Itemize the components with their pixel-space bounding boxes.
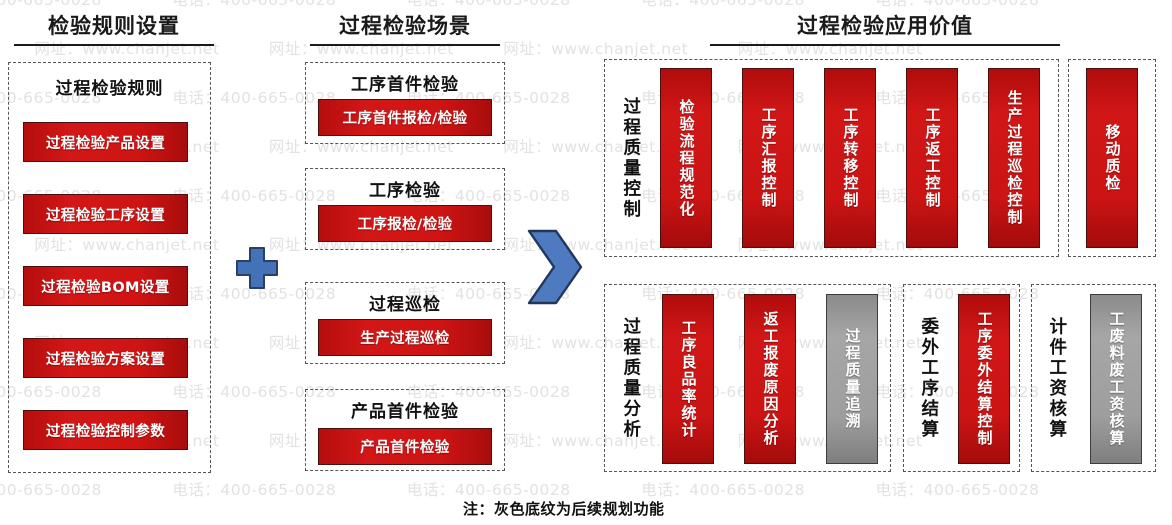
scene-panel-0-title: 工序首件检验 <box>305 70 505 95</box>
value-bar-process-report-control[interactable]: 工序汇报控制 <box>742 68 794 248</box>
column-heading-scenes: 过程检验场景 <box>310 10 500 46</box>
value-bar-scrap-reason-analysis[interactable]: 返工报废原因分析 <box>744 294 796 464</box>
column-heading-value-label: 过程检验应用价值 <box>791 10 979 40</box>
rules-item-2[interactable]: 过程检验BOM设置 <box>23 266 188 306</box>
value-bar-process-transfer-control[interactable]: 工序转移控制 <box>824 68 876 248</box>
scene-panel-3-title: 产品首件检验 <box>305 397 505 422</box>
scene-item-1[interactable]: 工序报检/检验 <box>318 205 492 242</box>
value-panel-piecework-label: 计件工资核算 <box>1038 296 1074 460</box>
rules-item-1[interactable]: 过程检验工序设置 <box>23 194 188 234</box>
value-bar-yield-statistics[interactable]: 工序良品率统计 <box>662 294 714 464</box>
scene-panel-1-title: 工序检验 <box>305 176 505 201</box>
rules-panel-title: 过程检验规则 <box>8 74 211 99</box>
value-panel-quality-analysis-label: 过程质量分析 <box>612 296 648 460</box>
scene-item-3[interactable]: 产品首件检验 <box>318 428 492 465</box>
plus-icon <box>233 244 281 292</box>
rules-item-4[interactable]: 过程检验控制参数 <box>23 410 188 450</box>
rules-item-3[interactable]: 过程检验方案设置 <box>23 338 188 378</box>
value-bar-production-patrol-control[interactable]: 生产过程巡检控制 <box>988 68 1040 248</box>
scene-panel-2-title: 过程巡检 <box>305 290 505 315</box>
column-heading-rules-label: 检验规则设置 <box>42 10 186 40</box>
value-bar-outsourcing-settlement-control[interactable]: 工序委外结算控制 <box>958 294 1010 464</box>
heading-rule <box>710 44 1060 46</box>
footnote: 注：灰色底纹为后续规划功能 <box>463 498 665 519</box>
value-bar-quality-traceability[interactable]: 过程质量追溯 <box>826 294 878 464</box>
column-heading-scenes-label: 过程检验场景 <box>333 10 477 40</box>
value-bar-scrap-wage-accounting[interactable]: 工废料废工资核算 <box>1090 294 1142 464</box>
heading-rule <box>310 44 500 46</box>
column-heading-value: 过程检验应用价值 <box>710 10 1060 46</box>
scene-item-0[interactable]: 工序首件报检/检验 <box>318 99 492 136</box>
value-bar-rework-control[interactable]: 工序返工控制 <box>906 68 958 248</box>
diagram-canvas: 电话：400-665-0028电话：400-665-0028电话：400-665… <box>0 0 1172 525</box>
scene-item-2[interactable]: 生产过程巡检 <box>318 319 492 356</box>
value-bar-mobile-qc[interactable]: 移动质检 <box>1086 68 1138 248</box>
chevron-right-icon <box>523 228 587 306</box>
heading-rule <box>14 44 214 46</box>
value-bar-inspection-flow[interactable]: 检验流程规范化 <box>660 68 712 248</box>
column-heading-rules: 检验规则设置 <box>14 10 214 46</box>
value-panel-outsourcing-label: 委外工序结算 <box>910 296 946 460</box>
value-panel-quality-control-label: 过程质量控制 <box>612 73 648 243</box>
rules-item-0[interactable]: 过程检验产品设置 <box>23 122 188 162</box>
